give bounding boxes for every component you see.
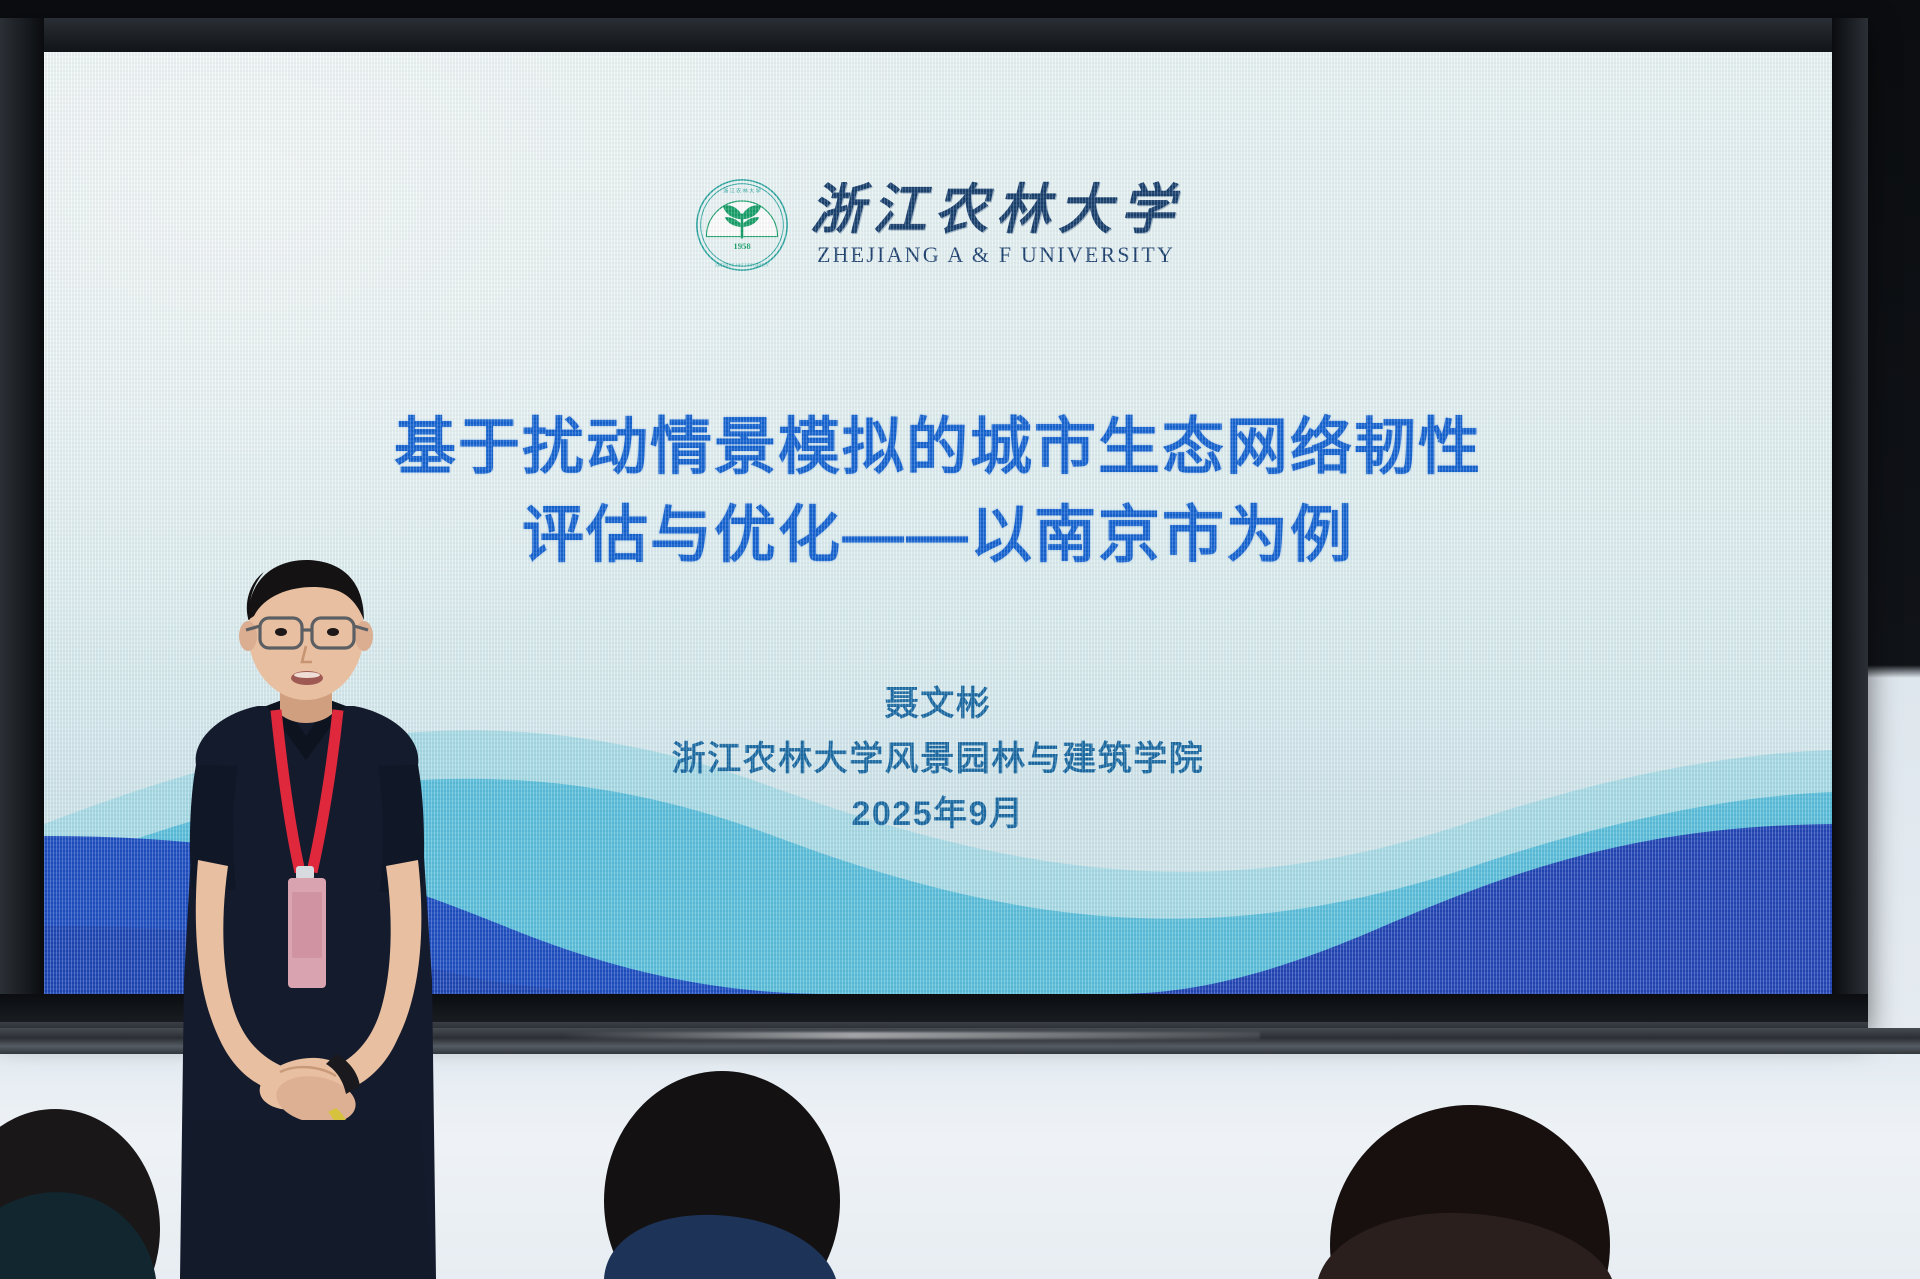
university-name-en: ZHEJIANG A & F UNIVERSITY xyxy=(817,242,1175,268)
audience-head-right xyxy=(1318,1105,1612,1279)
presentation-scene: 浙 江 农 林 大 学 1958 ZHEJIANG A&F UNIVERSITY… xyxy=(0,0,1920,1279)
audience-head-center xyxy=(604,1071,840,1279)
audience-head-left xyxy=(0,1109,160,1279)
university-logo-lockup: 浙 江 农 林 大 学 1958 ZHEJIANG A&F UNIVERSITY… xyxy=(694,177,1182,273)
slide-title: 基于扰动情景模拟的城市生态网络韧性 评估与优化——以南京市为例 xyxy=(44,404,1832,580)
university-name-cn: 浙江农林大学 xyxy=(810,182,1182,239)
university-wordmark: 浙江农林大学 ZHEJIANG A & F UNIVERSITY xyxy=(810,182,1182,269)
bezel-edge-right xyxy=(1832,18,1868,1028)
seal-year-label: 1958 xyxy=(733,241,751,251)
slide-title-line-1: 基于扰动情景模拟的城市生态网络韧性 xyxy=(44,404,1832,492)
bezel-edge-top xyxy=(0,18,1868,52)
svg-text:浙 江 农 林 大 学: 浙 江 农 林 大 学 xyxy=(723,186,761,194)
bezel-edge-left xyxy=(0,18,44,1028)
audience-foreground xyxy=(0,979,1920,1279)
university-seal-icon: 浙 江 农 林 大 学 1958 ZHEJIANG A&F UNIVERSITY xyxy=(694,177,790,273)
svg-text:ZHEJIANG A&F UNIVERSITY: ZHEJIANG A&F UNIVERSITY xyxy=(715,262,769,267)
